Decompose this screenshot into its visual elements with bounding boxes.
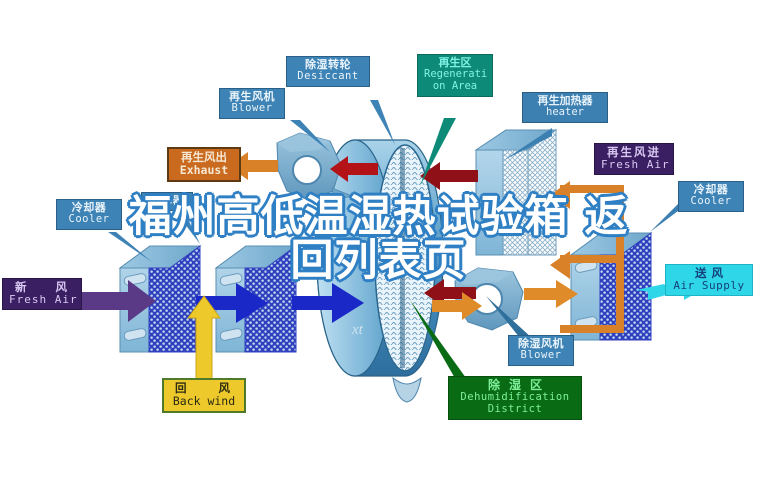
label-back-wind-en: Back wind	[170, 395, 238, 408]
label-cooler-left: 冷却器 Cooler	[56, 199, 122, 230]
label-desiccant: 除湿转轮 Desiccant	[286, 56, 370, 87]
label-regeneration-area-en2: on Area	[424, 81, 486, 93]
label-regen-fresh-air: 再生风进 Fresh Air	[594, 143, 674, 175]
label-regen-exhaust-en: Exhaust	[175, 164, 233, 177]
label-fresh-air-en: Fresh Air	[9, 294, 75, 306]
label-cooler-middle-cn: 冷却器	[148, 195, 186, 207]
label-regeneration-heater: 再生加热器 heater	[522, 92, 608, 123]
label-fresh-air: 新 风 Fresh Air	[2, 278, 82, 310]
label-air-supply-en: Air Supply	[672, 280, 746, 292]
label-air-supply-cn: 送风	[672, 267, 746, 280]
label-back-wind-cn: 回 风	[170, 382, 238, 395]
label-dehum-blower-en: Blower	[515, 350, 567, 362]
schematic-svg	[0, 0, 757, 488]
label-cooler-left-en: Cooler	[63, 214, 115, 226]
dehumidifier-schematic-diagram: 除湿转轮 Desiccant 再生风机 Blower 再生区 Regenerat…	[0, 0, 757, 488]
label-dehum-district-en2: District	[455, 404, 575, 416]
label-cooler-right: 冷却器 Cooler	[678, 181, 744, 212]
label-regen-blower-en: Blower	[226, 103, 278, 115]
regeneration-heater-unit	[476, 130, 556, 255]
label-air-supply: 送风 Air Supply	[665, 264, 753, 296]
label-regen-fresh-air-cn: 再生风进	[601, 146, 667, 159]
label-regen-exhaust: 再生风出 Exhaust	[167, 147, 241, 182]
label-regen-blower: 再生风机 Blower	[219, 88, 285, 119]
label-dehumidification-district: 除湿区 Dehumidification District	[448, 376, 582, 420]
label-regen-fresh-air-en: Fresh Air	[601, 159, 667, 171]
label-regeneration-heater-en: heater	[529, 107, 601, 119]
label-cooler-middle: 冷却器	[141, 192, 193, 211]
label-desiccant-en: Desiccant	[293, 71, 363, 83]
faint-site-mark: xt	[352, 322, 363, 339]
label-fresh-air-cn: 新 风	[9, 281, 75, 294]
label-cooler-right-en: Cooler	[685, 196, 737, 208]
label-dehum-district-cn: 除湿区	[455, 379, 575, 392]
label-back-wind: 回 风 Back wind	[162, 378, 246, 413]
label-regeneration-area: 再生区 Regenerati on Area	[417, 54, 493, 97]
cooler-box-right	[571, 233, 651, 340]
label-regen-exhaust-cn: 再生风出	[175, 151, 233, 164]
label-dehum-blower: 除湿风机 Blower	[508, 335, 574, 366]
